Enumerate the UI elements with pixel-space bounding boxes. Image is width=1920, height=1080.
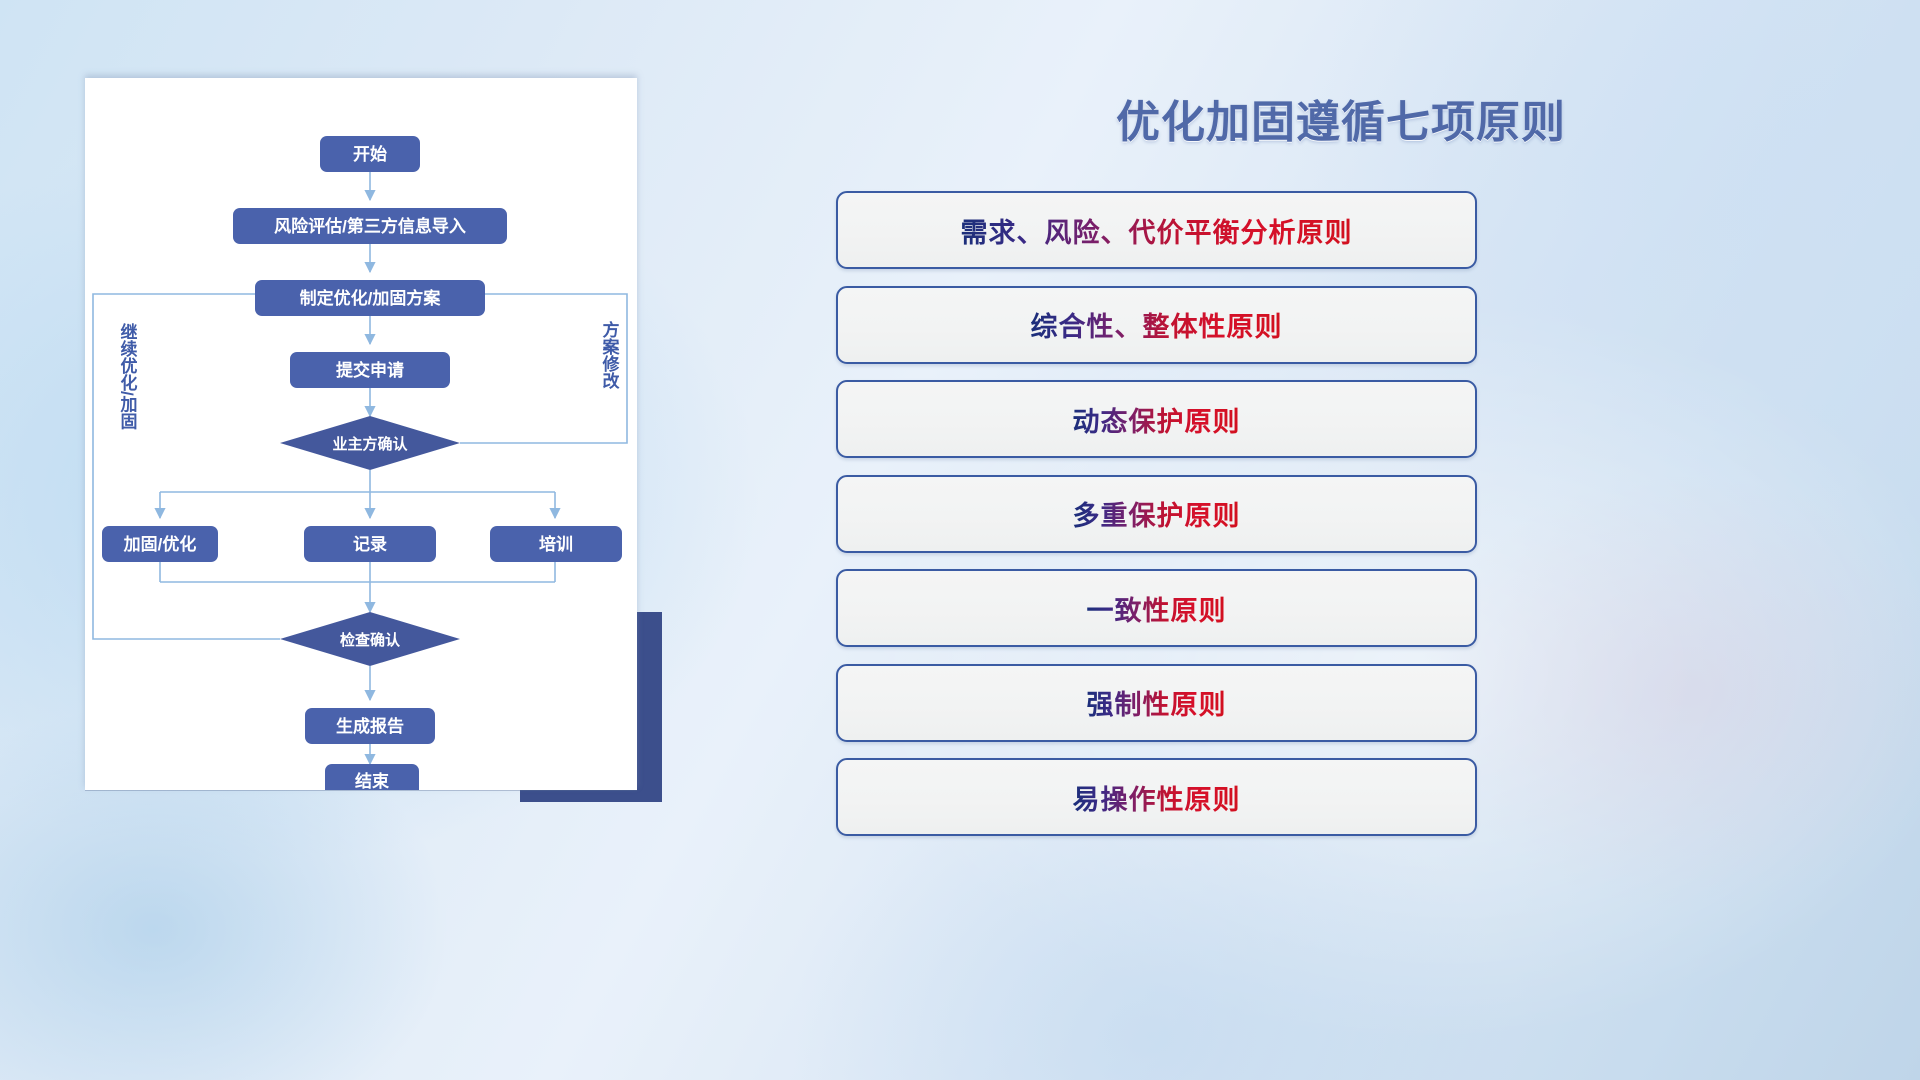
flow-node-risk-assessment-label: 风险评估/第三方信息导入 [274,216,466,236]
principle-card-1-label: 需求、风险、代价平衡分析原则 [961,211,1353,250]
card-right-edge [1475,226,1477,269]
principle-card-4[interactable]: 多重保护原则 [836,475,1477,553]
flow-node-reinforce[interactable]: 加固/优化 [102,526,218,562]
flow-node-reinforce-label: 加固/优化 [123,534,197,554]
principle-card-6-label: 强制性原则 [1087,683,1227,722]
flowchart-svg: 开始 风险评估/第三方信息导入 制定优化/加固方案 提交申请 业主方确认 加固/… [85,78,637,790]
flow-node-start[interactable]: 开始 [320,136,420,172]
flow-node-start-label: 开始 [353,144,387,164]
card-right-edge [1475,793,1477,836]
card-right-edge [1475,509,1477,552]
principles-pane: 优化加固遵循七项原则 需求、风险、代价平衡分析原则 综合性、整体性原则 动态保护… [836,60,1846,1020]
card-right-edge [1475,320,1477,363]
flow-edge-label-continue-optimize: 继续优化/加固 [118,322,139,431]
flow-node-plan-label: 制定优化/加固方案 [300,288,442,308]
flow-node-owner-confirm[interactable]: 业主方确认 [280,416,460,470]
principle-card-7-label: 易操作性原则 [1073,778,1241,817]
flow-node-submit-label: 提交申请 [336,360,404,380]
flow-node-end-label: 结束 [355,771,389,790]
flow-node-end[interactable]: 结束 [325,764,419,790]
flow-node-risk-assessment[interactable]: 风险评估/第三方信息导入 [233,208,507,244]
page-title: 优化加固遵循七项原则 [946,86,1736,150]
principle-card-3[interactable]: 动态保护原则 [836,380,1477,458]
flow-node-record-label: 记录 [353,535,387,554]
flow-node-report[interactable]: 生成报告 [305,708,435,744]
principle-card-5[interactable]: 一致性原则 [836,569,1477,647]
flow-node-plan[interactable]: 制定优化/加固方案 [255,280,485,316]
principle-card-2[interactable]: 综合性、整体性原则 [836,286,1477,364]
flowchart-panel: 开始 风险评估/第三方信息导入 制定优化/加固方案 提交申请 业主方确认 加固/… [85,78,637,790]
principle-card-5-label: 一致性原则 [1087,589,1227,628]
card-right-edge [1475,415,1477,458]
principle-card-2-label: 综合性、整体性原则 [1031,305,1283,344]
flow-node-train[interactable]: 培训 [490,526,622,562]
card-right-edge [1475,604,1477,647]
flow-node-owner-confirm-label: 业主方确认 [332,435,408,453]
flow-node-submit[interactable]: 提交申请 [290,352,450,388]
flow-node-train-label: 培训 [539,534,573,554]
flow-node-record[interactable]: 记录 [304,526,436,562]
principle-card-4-label: 多重保护原则 [1073,494,1241,533]
flow-node-check-confirm[interactable]: 检查确认 [280,612,460,666]
card-right-edge [1475,698,1477,741]
flow-node-report-label: 生成报告 [336,716,404,736]
flow-edge-label-plan-revision: 方案修改 [600,320,621,390]
principle-card-7[interactable]: 易操作性原则 [836,758,1477,836]
principle-card-3-label: 动态保护原则 [1073,400,1241,439]
principles-list: 需求、风险、代价平衡分析原则 综合性、整体性原则 动态保护原则 多重保护原则 一… [836,191,1476,853]
flow-node-check-confirm-label: 检查确认 [340,631,401,649]
principle-card-6[interactable]: 强制性原则 [836,664,1477,742]
principle-card-1[interactable]: 需求、风险、代价平衡分析原则 [836,191,1477,269]
